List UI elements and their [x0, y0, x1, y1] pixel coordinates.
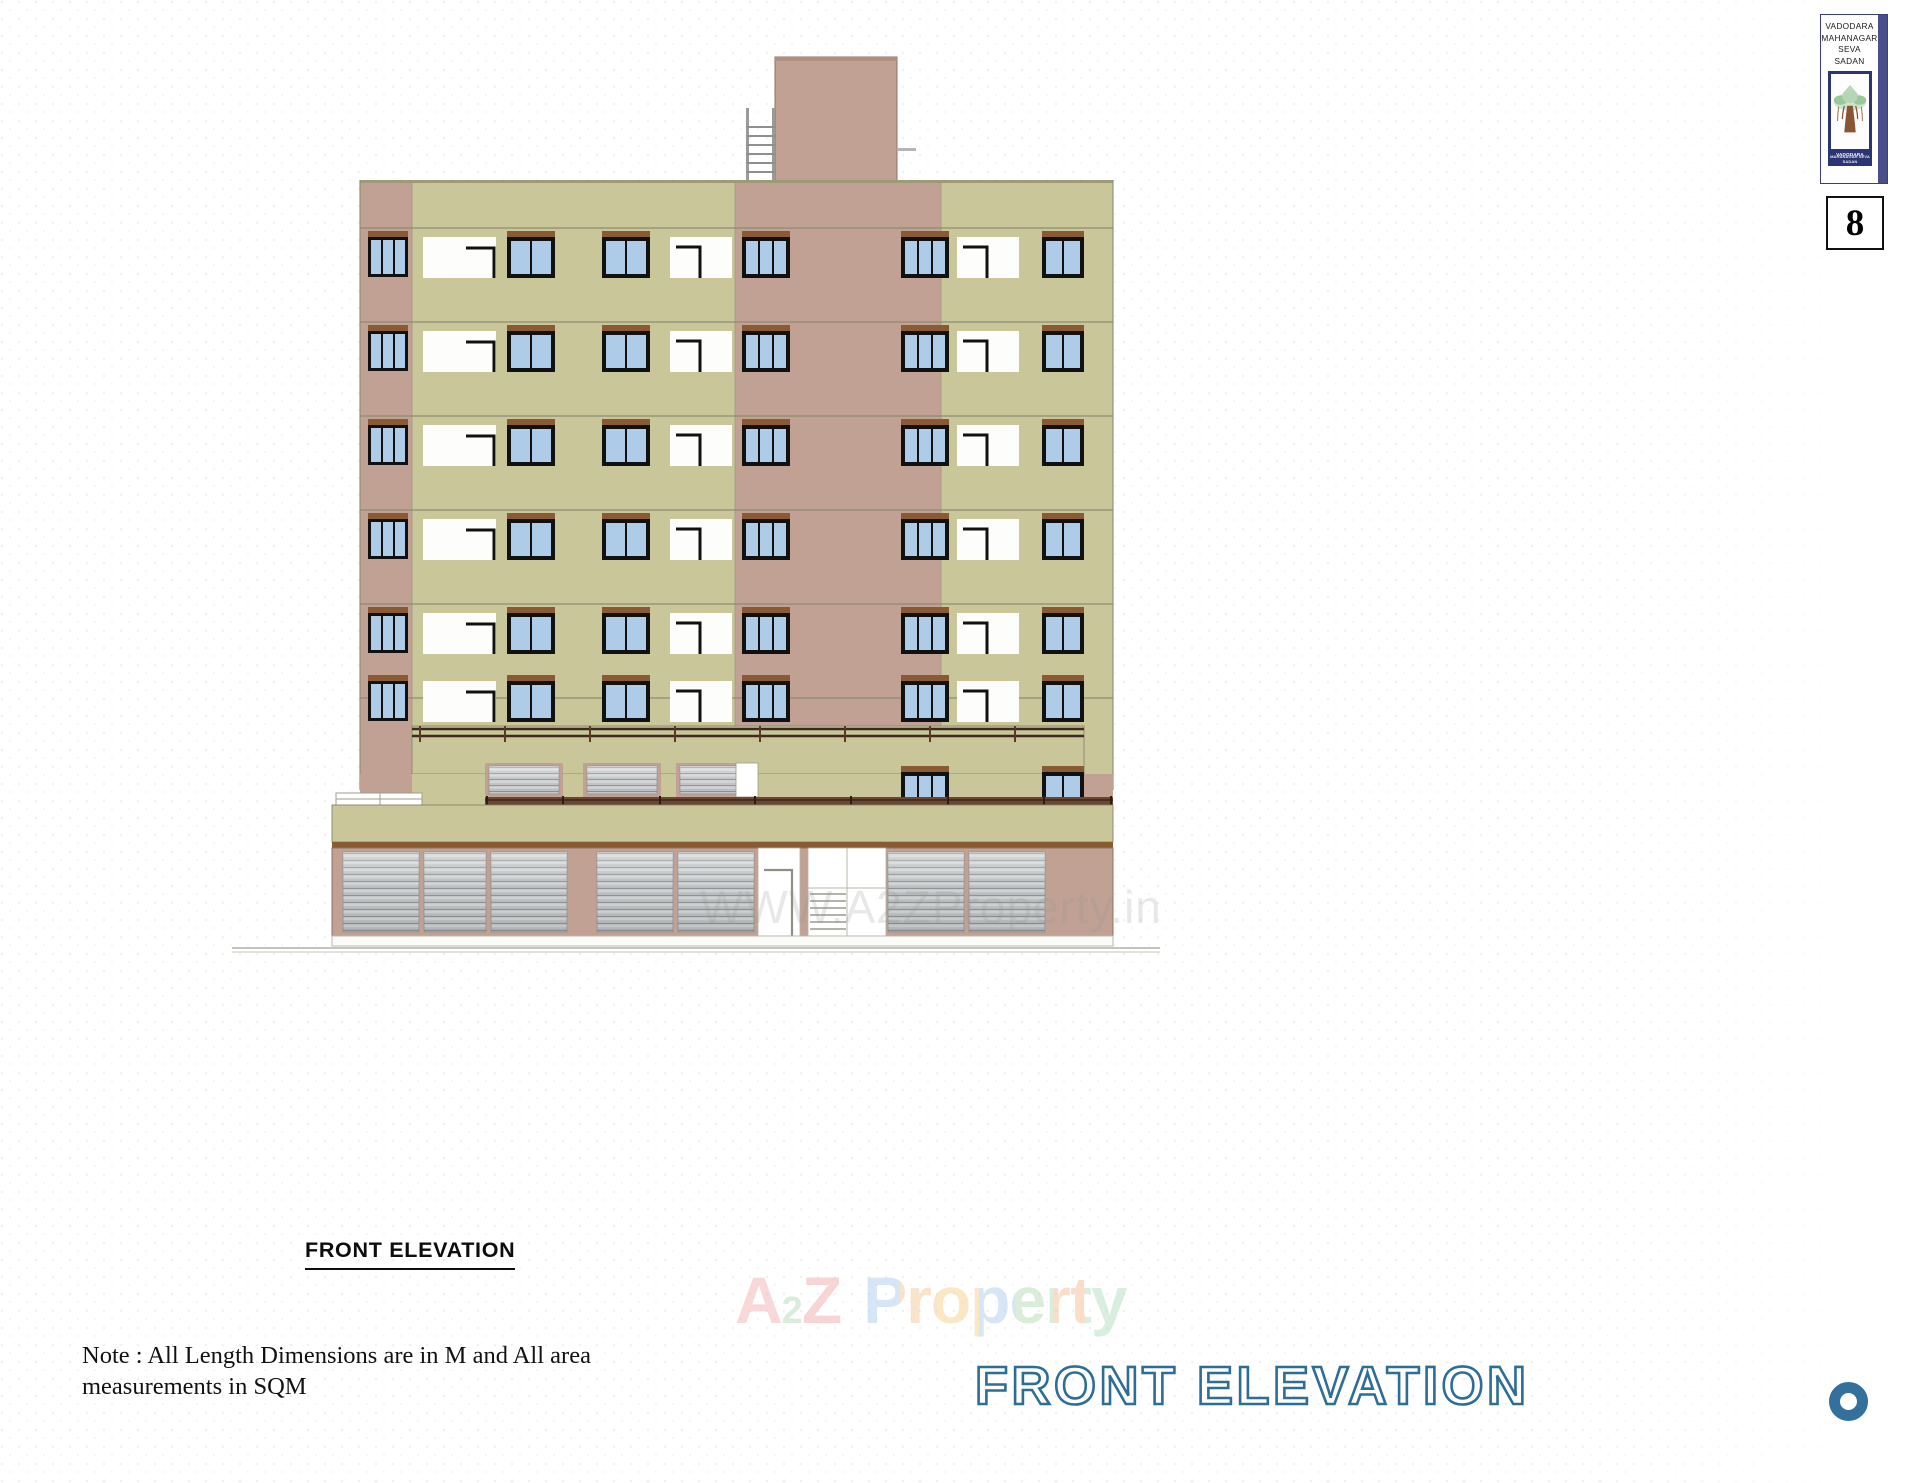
stamp-line-1: VADODARA [1821, 21, 1878, 33]
stamp-text: VADODARA MAHANAGAR SEVA SADAN [1821, 21, 1878, 67]
left-parapet-railing [336, 793, 422, 805]
wm-z: Z [802, 1262, 841, 1338]
page-number-value: 8 [1846, 205, 1865, 242]
a2z-property-watermark: A2ZProperty [735, 1262, 1127, 1338]
stamp-line-3: SEVA [1821, 44, 1878, 56]
watermark-url: WWW.A2ZProperty.in [700, 880, 1162, 934]
authority-stamp: VADODARA MAHANAGAR SEVA SADAN VADODARA M… [1820, 14, 1888, 184]
brand-donut-icon [1829, 1382, 1868, 1421]
lift-machine-room [775, 57, 897, 183]
front-elevation-label: FRONT ELEVATION [305, 1238, 515, 1270]
banyan-tree-emblem-icon: VADODARA MAHANAGAR SEVA SADAN [1828, 71, 1872, 166]
stamp-line-4: SADAN [1821, 56, 1878, 68]
plinth-ground-line [232, 936, 1160, 952]
emblem-caption-secondary: MAHANAGAR SEVA SADAN [1829, 154, 1871, 164]
dimension-note: Note : All Length Dimensions are in M an… [82, 1340, 602, 1402]
page-number-box: 8 [1826, 196, 1884, 250]
wm-property: Property [863, 1262, 1126, 1338]
emblem-field [1831, 74, 1869, 149]
wm-a: A [735, 1262, 782, 1338]
stamp-side-band [1878, 15, 1887, 183]
tree-icon [1831, 74, 1869, 149]
wm-2: 2 [782, 1290, 802, 1333]
sheet-title: FRONT ELEVATION [975, 1355, 1529, 1417]
stamp-line-2: MAHANAGAR [1821, 33, 1878, 45]
ground-podium-wall [332, 805, 1113, 848]
front-elevation-drawing [0, 0, 1920, 1483]
